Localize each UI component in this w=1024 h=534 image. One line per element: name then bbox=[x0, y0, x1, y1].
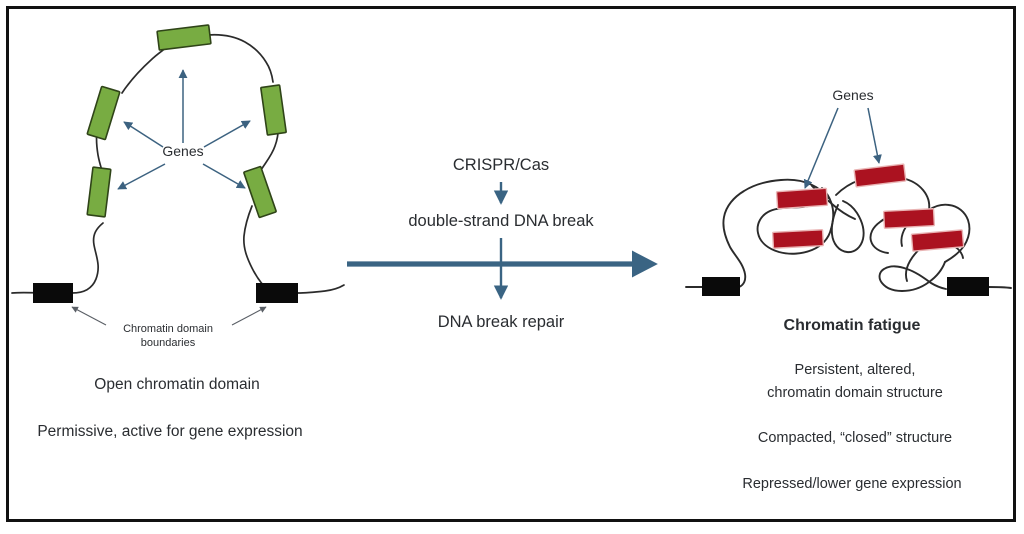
left-caption-permissive: Permissive, active for gene expression bbox=[37, 423, 302, 440]
left-genes-label: Genes bbox=[162, 143, 203, 159]
left-boundaries-label-line2: boundaries bbox=[141, 337, 196, 349]
center-label-dsb: double-strand DNA break bbox=[408, 212, 594, 230]
gene-box-red-left-lower bbox=[773, 230, 824, 249]
figure-canvas: Genes Chromatin domain boundaries Open c… bbox=[0, 0, 1024, 534]
center-label-repair: DNA break repair bbox=[438, 313, 565, 331]
gene-box-red-right-upper bbox=[884, 209, 935, 229]
left-gene-boxes bbox=[87, 25, 286, 218]
left-caption-open-domain: Open chromatin domain bbox=[94, 376, 259, 393]
gene-box-red-top-middle bbox=[854, 164, 906, 187]
gene-box-red-right-lower bbox=[911, 230, 963, 251]
left-panel-open-chromatin: Genes Chromatin domain boundaries Open c… bbox=[12, 25, 344, 440]
right-caption-persistent-line1: Persistent, altered, bbox=[795, 362, 916, 378]
gene-box-green-lower-right bbox=[244, 166, 277, 217]
gene-box-green-upper-right bbox=[261, 85, 286, 135]
center-panel-process: CRISPR/Cas double-strand DNA break DNA b… bbox=[347, 156, 648, 331]
right-title-chromatin-fatigue: Chromatin fatigue bbox=[784, 317, 921, 334]
right-boundary-box-left bbox=[702, 277, 740, 296]
center-label-crispr-cas: CRISPR/Cas bbox=[453, 156, 549, 174]
gene-box-green-lower-left bbox=[87, 167, 111, 217]
right-caption-compacted: Compacted, “closed” structure bbox=[758, 430, 952, 446]
right-caption-repressed: Repressed/lower gene expression bbox=[742, 476, 961, 492]
right-boundary-box-right bbox=[947, 277, 989, 296]
left-chromatin-fiber bbox=[12, 35, 344, 293]
gene-box-green-upper-left bbox=[87, 86, 120, 139]
right-caption-persistent-line2: chromatin domain structure bbox=[767, 385, 943, 401]
right-genes-label: Genes bbox=[832, 87, 873, 103]
right-panel-chromatin-fatigue: Genes Chromatin fatigue Persistent, alte… bbox=[686, 87, 1011, 492]
left-boundary-box-left bbox=[33, 283, 73, 303]
diagram-svg: Genes Chromatin domain boundaries Open c… bbox=[0, 0, 1024, 534]
gene-box-red-left-upper bbox=[776, 188, 827, 208]
gene-box-green-top bbox=[157, 25, 211, 50]
left-boundaries-label-line1: Chromatin domain bbox=[123, 323, 213, 335]
left-genes-pointer-arrows bbox=[118, 70, 250, 189]
left-boundary-box-right bbox=[256, 283, 298, 303]
